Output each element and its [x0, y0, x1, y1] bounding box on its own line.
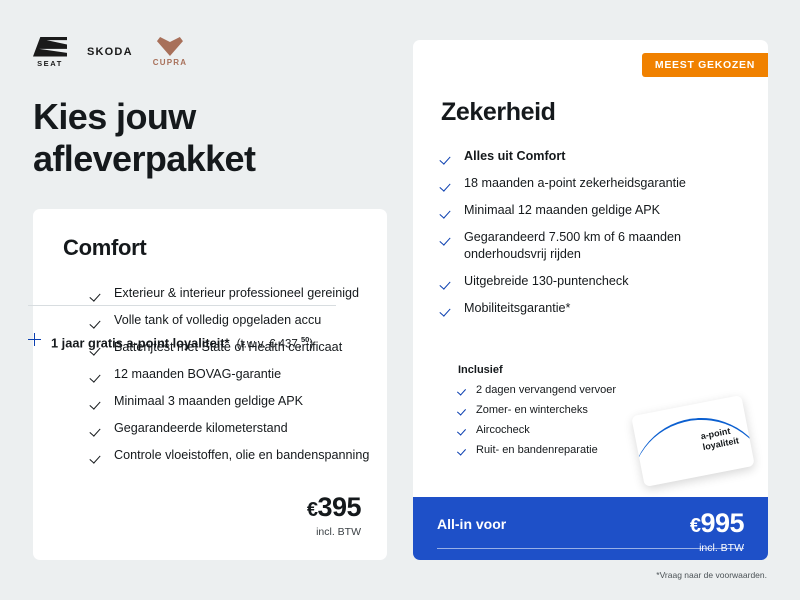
check-icon [441, 232, 454, 245]
status-badge: MEEST GEKOZEN [642, 53, 768, 77]
loyalty-bonus-row: 1 jaar gratis a-point loyaliteit* (t.w.v… [28, 331, 340, 353]
comfort-price-note: incl. BTW [307, 526, 361, 538]
comfort-title: Comfort [63, 235, 146, 261]
check-icon [458, 385, 468, 395]
cupra-logo-icon [157, 37, 183, 56]
check-icon [458, 445, 468, 455]
page-title: Kies jouw afleverpakket [33, 96, 373, 180]
cupra-wordmark: CUPRA [153, 58, 187, 67]
check-icon [91, 450, 104, 463]
check-icon [441, 151, 454, 164]
poster-root: SEAT SKODA CUPRA Kies jouw afleverpakket… [0, 0, 800, 600]
list-item: Gegarandeerd 7.500 km of 6 maanden onder… [441, 229, 751, 263]
allin-price: €995 [690, 508, 744, 541]
section-divider [28, 305, 336, 306]
loyalty-main: 1 jaar gratis a-point loyaliteit* [51, 335, 230, 350]
check-icon [91, 369, 104, 382]
list-item: Minimaal 12 maanden geldige APK [441, 202, 751, 219]
check-icon [458, 405, 468, 415]
inclusief-label: Inclusief [458, 364, 503, 376]
list-item: Controle vloeistoffen, olie en bandenspa… [91, 447, 381, 464]
footnote: *Vraag naar de voorwaarden. [656, 570, 767, 580]
brand-seat: SEAT [33, 37, 67, 68]
brand-logo-bar: SEAT SKODA CUPRA [33, 36, 187, 68]
plus-icon [28, 333, 41, 346]
zekerheid-package-card: MEEST GEKOZEN Zekerheid Alles uit Comfor… [413, 40, 768, 560]
seat-logo-icon [33, 37, 67, 57]
brand-cupra: CUPRA [153, 37, 187, 67]
check-icon [91, 396, 104, 409]
comfort-price: €395 [307, 492, 361, 525]
list-item: 2 dagen vervangend vervoer [458, 383, 688, 398]
loyalty-note-suffix: ) [309, 338, 313, 350]
list-item: Gegarandeerde kilometerstand [91, 420, 381, 437]
check-icon [91, 288, 104, 301]
loyalty-note-prefix: (t.w.v. € 437, [237, 338, 301, 350]
list-item: Alles uit Comfort [441, 148, 751, 165]
check-icon [441, 276, 454, 289]
price-value: 995 [700, 508, 744, 538]
check-icon [441, 303, 454, 316]
list-item: Mobiliteitsgarantie* [441, 300, 751, 317]
zekerheid-title: Zekerheid [441, 98, 556, 127]
zekerheid-feature-list: Alles uit Comfort 18 maanden a-point zek… [441, 148, 751, 327]
comfort-feature-list: Exterieur & interieur professioneel gere… [91, 285, 381, 474]
list-item: Volle tank of volledig opgeladen accu [91, 312, 381, 329]
loyalty-bonus-text: 1 jaar gratis a-point loyaliteit* (t.w.v… [51, 331, 313, 353]
currency-symbol: € [307, 499, 318, 521]
currency-symbol: € [690, 515, 701, 537]
check-icon [91, 315, 104, 328]
list-item: 18 maanden a-point zekerheidsgarantie [441, 175, 751, 192]
list-item: 12 maanden BOVAG-garantie [91, 366, 381, 383]
list-item: Uitgebreide 130-puntencheck [441, 273, 751, 290]
comfort-price-block: €395 incl. BTW [307, 492, 361, 538]
comfort-package-card: Comfort Exterieur & interieur profession… [33, 209, 387, 560]
check-icon [458, 425, 468, 435]
list-item: Exterieur & interieur professioneel gere… [91, 285, 381, 302]
footer-rule [437, 548, 744, 549]
list-item: Minimaal 3 maanden geldige APK [91, 393, 381, 410]
check-icon [441, 178, 454, 191]
check-icon [441, 205, 454, 218]
brand-skoda: SKODA [87, 46, 133, 58]
allin-price-bar: All-in voor €995 incl. BTW [413, 497, 768, 560]
allin-label: All-in voor [437, 516, 506, 532]
seat-wordmark: SEAT [37, 59, 63, 68]
price-value: 395 [317, 492, 361, 522]
check-icon [91, 423, 104, 436]
